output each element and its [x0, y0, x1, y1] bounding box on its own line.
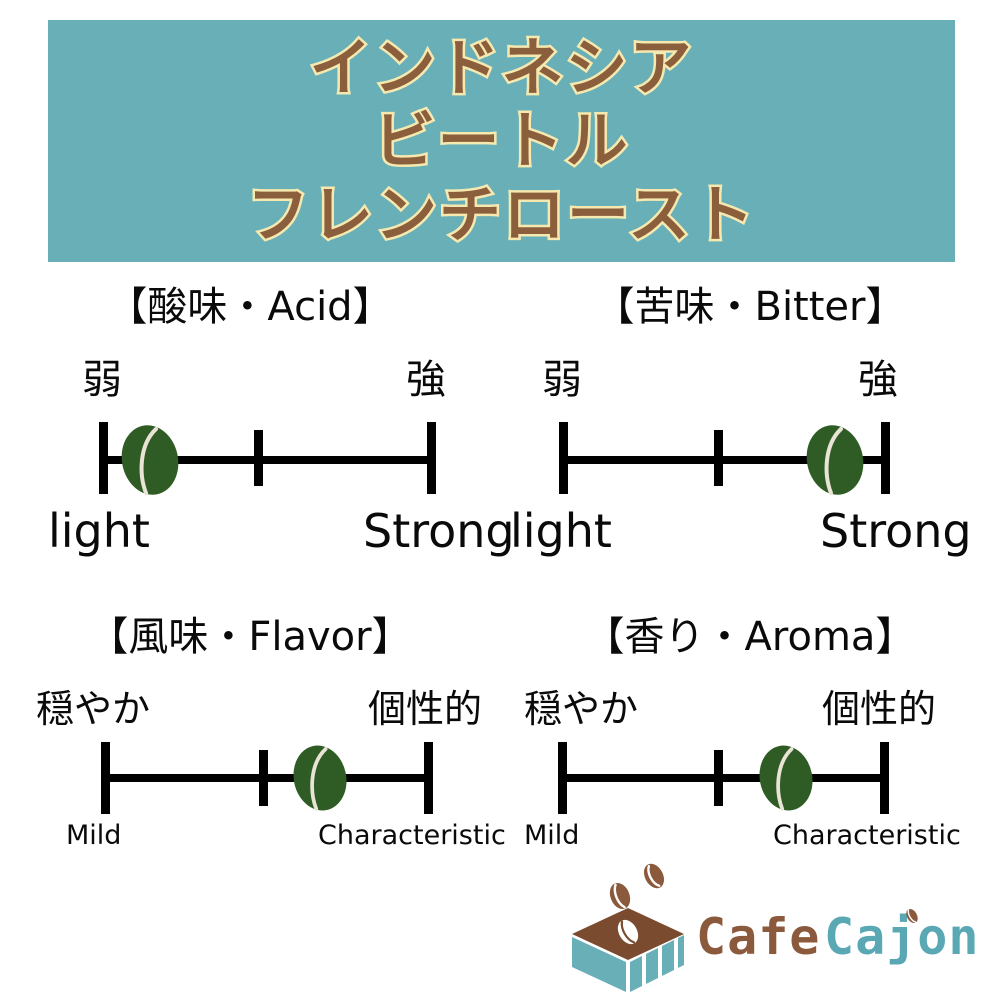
bitter-right-label-en: Strong	[820, 508, 972, 554]
section-header-aroma: 【香り・Aroma】	[500, 604, 1000, 662]
acid-tick-left	[99, 422, 108, 494]
bitter-bean-marker	[804, 423, 866, 497]
acid-left-label-jp: 弱	[82, 360, 122, 400]
acid-left-label-en: light	[48, 508, 150, 554]
flavor-tick-middle	[259, 750, 268, 806]
aroma-bean-marker	[757, 743, 815, 813]
section-header-acid: 【酸味・Acid】	[0, 274, 500, 332]
aroma-tick-middle	[714, 750, 723, 806]
bitter-left-label-jp: 弱	[542, 360, 582, 400]
flavor-tick-left	[101, 742, 110, 814]
title-banner: インドネシア ビートル フレンチロースト	[48, 20, 955, 262]
title-line-1: インドネシア	[309, 31, 693, 104]
title-line-2: ビートル	[373, 104, 629, 177]
aroma-right-label-en: Characteristic	[773, 822, 961, 849]
cajon-box-icon	[558, 862, 698, 994]
aroma-tick-right	[880, 742, 889, 814]
scale-aroma: 穏やか 個性的 Mild Characteristic	[500, 690, 1000, 870]
brand-logo[interactable]: Cafe Cajon	[548, 862, 988, 994]
aroma-left-label-jp: 穏やか	[524, 690, 638, 728]
bitter-tick-middle	[714, 430, 723, 486]
acid-tick-middle	[254, 430, 263, 486]
flavor-left-label-en: Mild	[66, 822, 121, 849]
scale-bitter: 弱 強 light Strong	[500, 360, 1000, 560]
acid-right-label-jp: 強	[406, 360, 446, 400]
bitter-tick-right	[881, 422, 890, 494]
aroma-right-label-jp: 個性的	[822, 690, 936, 728]
title-line-3: フレンチロースト	[247, 178, 756, 251]
flavor-right-label-jp: 個性的	[368, 690, 482, 728]
flavor-right-label-en: Characteristic	[318, 822, 506, 849]
section-header-bitter: 【苦味・Bitter】	[500, 274, 1000, 332]
section-header-flavor: 【風味・Flavor】	[0, 604, 500, 662]
wordmark-cajon: Cajon	[824, 908, 980, 966]
aroma-axis-line	[562, 774, 888, 782]
acid-right-label-en: Strong	[363, 508, 515, 554]
bitter-tick-left	[559, 422, 568, 494]
flavor-bean-marker	[291, 743, 349, 813]
bitter-left-label-en: light	[510, 508, 612, 554]
wordmark-cafe: Cafe	[696, 908, 820, 966]
aroma-left-label-en: Mild	[524, 822, 579, 849]
bitter-right-label-jp: 強	[858, 360, 898, 400]
brand-wordmark: Cafe Cajon	[696, 902, 996, 972]
flavor-axis-line	[105, 774, 432, 782]
acid-tick-right	[427, 422, 436, 494]
aroma-tick-left	[558, 742, 567, 814]
scale-acid: 弱 強 light Strong	[0, 360, 500, 560]
acid-bean-marker	[119, 423, 181, 497]
flavor-left-label-jp: 穏やか	[36, 690, 150, 728]
flavor-tick-right	[424, 742, 433, 814]
scale-flavor: 穏やか 個性的 Mild Characteristic	[0, 690, 500, 870]
